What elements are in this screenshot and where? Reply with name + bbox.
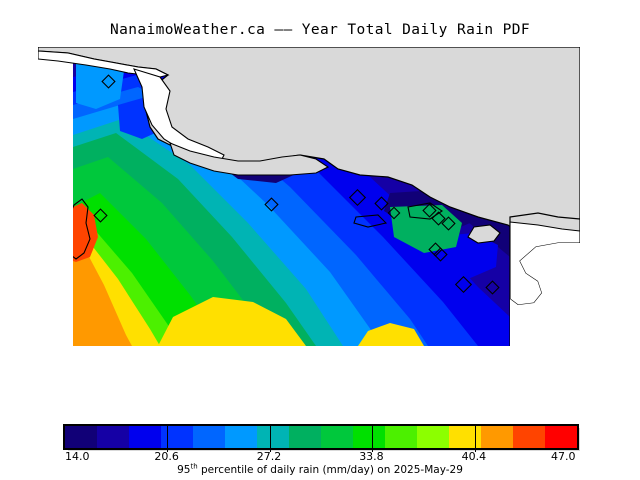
colorbar-segment-9 xyxy=(353,426,385,448)
colorbar-segment-5 xyxy=(225,426,257,448)
colorbar-caption: 95th percentile of daily rain (mm/day) o… xyxy=(0,464,640,476)
colorbar-segment-8 xyxy=(321,426,353,448)
colorbar-tick-label-5: 47.0 xyxy=(551,450,576,463)
colorbar-segment-11 xyxy=(417,426,449,448)
colorbar-segment-1 xyxy=(97,426,129,448)
colorbar-tick-2 xyxy=(270,426,271,452)
colorbar-segment-13 xyxy=(481,426,513,448)
colorbar-segment-10 xyxy=(385,426,417,448)
colorbar[interactable] xyxy=(63,424,579,450)
colorbar-segment-3 xyxy=(161,426,193,448)
colorbar-tick-label-0: 14.0 xyxy=(65,450,90,463)
colorbar-tick-4 xyxy=(475,426,476,452)
colorbar-segment-12 xyxy=(449,426,481,448)
colorbar-tick-label-1: 20.6 xyxy=(154,450,179,463)
colorbar-tick-3 xyxy=(372,426,373,452)
colorbar-block: 14.020.627.233.840.447.0 95th percentile… xyxy=(0,424,640,480)
colorbar-tick-label-4: 40.4 xyxy=(462,450,487,463)
colorbar-segment-6 xyxy=(257,426,289,448)
contour-map-svg xyxy=(38,47,580,346)
caption-superscript: th xyxy=(190,463,197,471)
colorbar-tick-label-2: 27.2 xyxy=(257,450,282,463)
page-title: NanaimoWeather.ca —— Year Total Daily Ra… xyxy=(0,22,640,38)
colorbar-tick-1 xyxy=(167,426,168,452)
colorbar-segment-7 xyxy=(289,426,321,448)
colorbar-segment-4 xyxy=(193,426,225,448)
colorbar-tick-labels: 14.020.627.233.840.447.0 xyxy=(0,450,640,464)
map-plot-area[interactable] xyxy=(38,47,580,346)
colorbar-segment-14 xyxy=(513,426,545,448)
colorbar-segment-0 xyxy=(65,426,97,448)
colorbar-tick-label-3: 33.8 xyxy=(359,450,384,463)
colorbar-segment-2 xyxy=(129,426,161,448)
colorbar-segment-15 xyxy=(545,426,577,448)
